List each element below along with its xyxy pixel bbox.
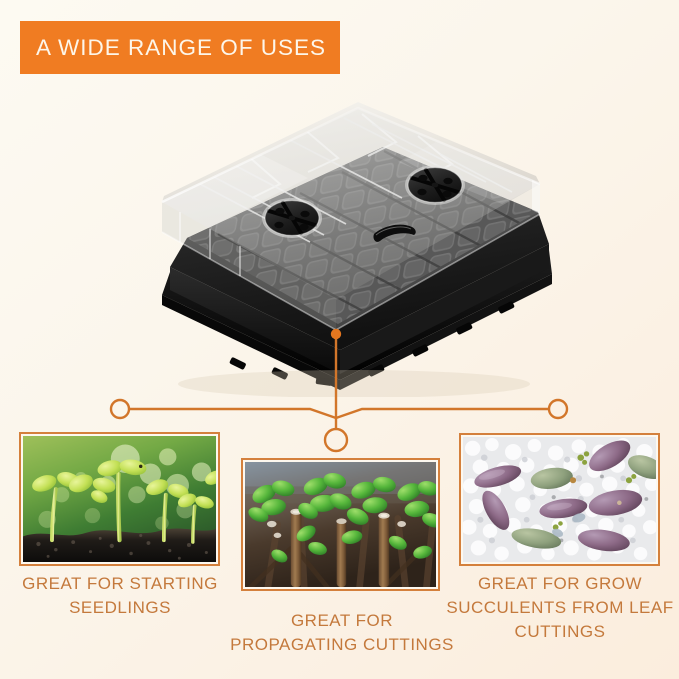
header-banner: A WIDE RANGE OF USES [20, 21, 340, 74]
cuttings-photo [245, 462, 436, 587]
vent-left[interactable] [262, 198, 322, 238]
seedlings-photo [23, 436, 216, 562]
connector-line-right [336, 409, 549, 418]
caption-cuttings: GREAT FOR PROPAGATING CUTTINGS [226, 609, 458, 657]
connector-node-center [325, 429, 347, 451]
connector-node-left [111, 400, 129, 418]
product-feature-page: A WIDE RANGE OF USES [0, 0, 679, 679]
cutting-stem [290, 509, 301, 587]
banner-title: A WIDE RANGE OF USES [36, 35, 326, 61]
photo-frame-seedlings [19, 432, 220, 566]
caption-succulents: GREAT FOR GROW SUCCULENTS FROM LEAF CUTT… [444, 572, 676, 644]
caption-seedlings: GREAT FOR STARTING SEEDLINGS [4, 572, 236, 620]
photo-frame-succulents [459, 433, 660, 566]
product-illustration [140, 92, 560, 397]
photo-frame-cuttings [241, 458, 440, 591]
connector-node-right [549, 400, 567, 418]
vent-right[interactable] [405, 165, 465, 205]
connector-line-left [129, 409, 336, 418]
succulent-leaves-photo [463, 437, 656, 562]
product-image [140, 92, 560, 397]
